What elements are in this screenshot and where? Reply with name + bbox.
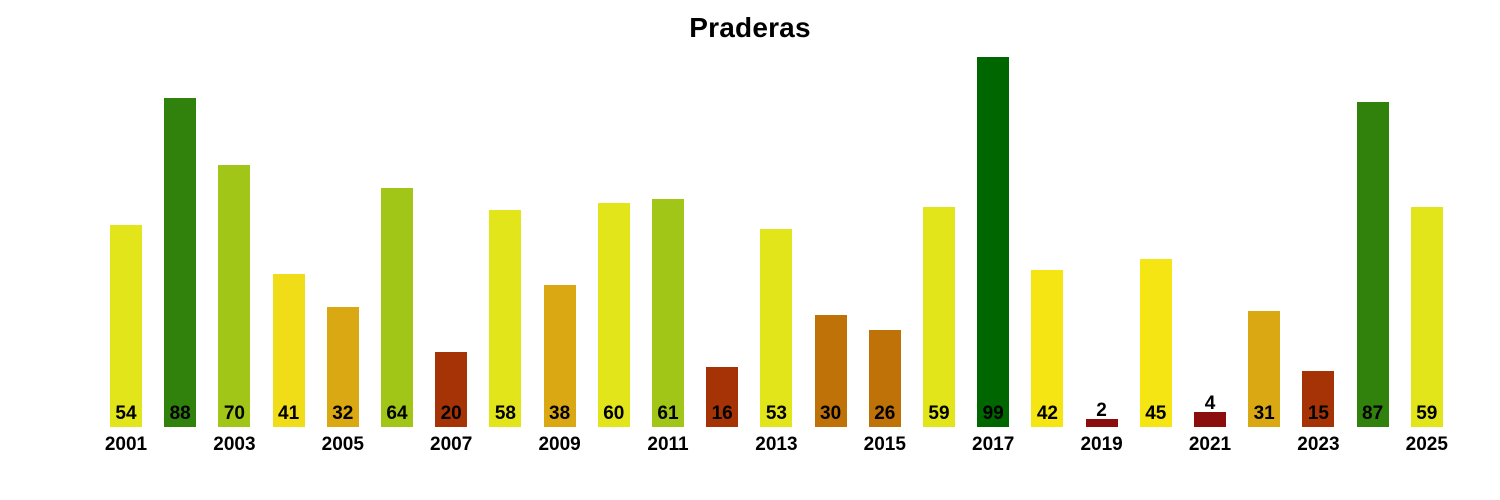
bar-value-label: 99 bbox=[966, 404, 1020, 424]
bar[interactable] bbox=[1411, 207, 1443, 427]
bar[interactable] bbox=[1194, 412, 1226, 427]
bar[interactable] bbox=[760, 229, 792, 427]
bar-value-label: 87 bbox=[1346, 404, 1400, 424]
bar-value-label: 41 bbox=[262, 404, 316, 424]
bar-value-label: 70 bbox=[207, 404, 261, 424]
bar-value-label: 58 bbox=[478, 404, 532, 424]
bar-value-label: 20 bbox=[424, 404, 478, 424]
bar-value-label: 2 bbox=[1075, 401, 1129, 421]
bar[interactable] bbox=[218, 165, 250, 427]
bar-value-label: 32 bbox=[316, 404, 370, 424]
bar[interactable] bbox=[381, 188, 413, 427]
bar-value-label: 31 bbox=[1237, 404, 1291, 424]
bar-value-label: 54 bbox=[99, 404, 153, 424]
bar[interactable] bbox=[110, 225, 142, 427]
bar[interactable] bbox=[652, 199, 684, 427]
bar[interactable] bbox=[923, 207, 955, 427]
bar[interactable] bbox=[598, 203, 630, 427]
bar-value-label: 59 bbox=[912, 404, 966, 424]
bar-value-label: 4 bbox=[1183, 394, 1237, 414]
bar-value-label: 42 bbox=[1020, 404, 1074, 424]
bar-value-label: 15 bbox=[1291, 404, 1345, 424]
bar-value-label: 64 bbox=[370, 404, 424, 424]
bar-value-label: 60 bbox=[587, 404, 641, 424]
bar-value-label: 30 bbox=[804, 404, 858, 424]
x-axis-tick-label: 2015 bbox=[858, 434, 912, 456]
x-axis-tick-label: 2017 bbox=[966, 434, 1020, 456]
x-axis-tick-label: 2025 bbox=[1400, 434, 1454, 456]
x-axis-tick-label: 2001 bbox=[99, 434, 153, 456]
bar[interactable] bbox=[1140, 259, 1172, 427]
bar-value-label: 26 bbox=[858, 404, 912, 424]
bar-value-label: 59 bbox=[1400, 404, 1454, 424]
plot-area: 5420018820027020034120043220056420062020… bbox=[0, 0, 1500, 500]
bar[interactable] bbox=[1357, 102, 1389, 427]
bar-value-label: 61 bbox=[641, 404, 695, 424]
x-axis-tick-label: 2005 bbox=[316, 434, 370, 456]
x-axis-tick-label: 2007 bbox=[424, 434, 478, 456]
x-axis-tick-label: 2019 bbox=[1075, 434, 1129, 456]
x-axis-tick-label: 2013 bbox=[749, 434, 803, 456]
x-axis-tick-label: 2003 bbox=[207, 434, 261, 456]
x-axis-tick-label: 2009 bbox=[533, 434, 587, 456]
bar-value-label: 38 bbox=[533, 404, 587, 424]
bar-value-label: 53 bbox=[749, 404, 803, 424]
bar-chart: Praderas 5420018820027020034120043220056… bbox=[0, 0, 1500, 500]
bar-value-label: 45 bbox=[1129, 404, 1183, 424]
bar[interactable] bbox=[164, 98, 196, 427]
bar[interactable] bbox=[489, 210, 521, 427]
bar-value-label: 88 bbox=[153, 404, 207, 424]
bar-value-label: 16 bbox=[695, 404, 749, 424]
x-axis-tick-label: 2011 bbox=[641, 434, 695, 456]
bar[interactable] bbox=[977, 57, 1009, 427]
x-axis-tick-label: 2021 bbox=[1183, 434, 1237, 456]
x-axis-tick-label: 2023 bbox=[1291, 434, 1345, 456]
